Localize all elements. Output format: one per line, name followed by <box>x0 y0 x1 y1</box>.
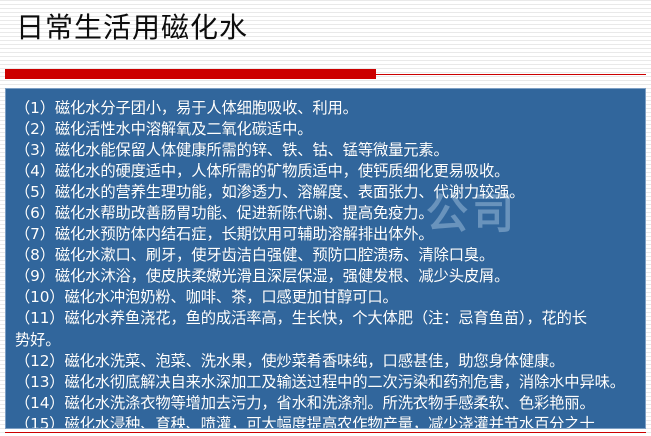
slide-canvas: 日常生活用磁化水 公司 （1）磁化水分子团小，易于人体细胞吸收、利用。（2）磁化… <box>0 0 651 436</box>
content-line: （5）磁化水的营养生理功能，如渗透力、溶解度、表面张力、代谢力较强。 <box>15 182 639 203</box>
content-line: （1）磁化水分子团小，易于人体细胞吸收、利用。 <box>15 98 639 119</box>
content-line: （15）磁化水浸种、育秧、喷灌，可大幅度提高农作物产量，减少浇灌并节水百分之十 <box>15 414 639 429</box>
content-line: （7）磁化水预防体内结石症，长期饮用可辅助溶解排出体外。 <box>15 224 639 245</box>
content-line: （9）磁化水沐浴，使皮肤柔嫩光滑且深层保湿，强健发根、减少头皮屑。 <box>15 266 639 287</box>
content-line: （10）磁化水冲泡奶粉、咖啡、茶，口感更加甘醇可口。 <box>15 287 639 308</box>
content-line: 势好。 <box>15 330 639 351</box>
content-line: （11）磁化水养鱼浇花，鱼的成活率高，生长快，个大体肥（注：忌育鱼苗），花的长 <box>15 308 639 329</box>
content-line: （2）磁化活性水中溶解氧及二氧化碳适中。 <box>15 119 639 140</box>
content-line: （8）磁化水漱口、刷牙，使牙齿洁白强健、预防口腔溃疡、清除口臭。 <box>15 245 639 266</box>
title-underline-bar <box>5 69 376 79</box>
content-panel: 公司 （1）磁化水分子团小，易于人体细胞吸收、利用。（2）磁化活性水中溶解氧及二… <box>5 88 646 429</box>
title-area: 日常生活用磁化水 <box>0 0 651 66</box>
content-list: （1）磁化水分子团小，易于人体细胞吸收、利用。（2）磁化活性水中溶解氧及二氧化碳… <box>6 89 646 429</box>
footer-hairline <box>5 432 646 433</box>
content-line: （4）磁化水的硬度适中，人体所需的矿物质适中，使钙质细化更易吸收。 <box>15 161 639 182</box>
content-line: （3）磁化水能保留人体健康所需的锌、铁、钴、锰等微量元素。 <box>15 140 639 161</box>
content-line: （6）磁化水帮助改善肠胃功能、促进新陈代谢、提高免疫力。 <box>15 203 639 224</box>
content-line: （14）磁化水洗涤衣物等增加去污力，省水和洗涤剂。所洗衣物手感柔软、色彩艳丽。 <box>15 393 639 414</box>
page-title: 日常生活用磁化水 <box>16 14 248 42</box>
content-line: （12）磁化水洗菜、泡菜、洗水果，使炒菜肴香味纯，口感甚佳，助您身体健康。 <box>15 351 639 372</box>
content-line: （13）磁化水彻底解决自来水深加工及输送过程中的二次污染和药剂危害，消除水中异味… <box>15 372 639 393</box>
